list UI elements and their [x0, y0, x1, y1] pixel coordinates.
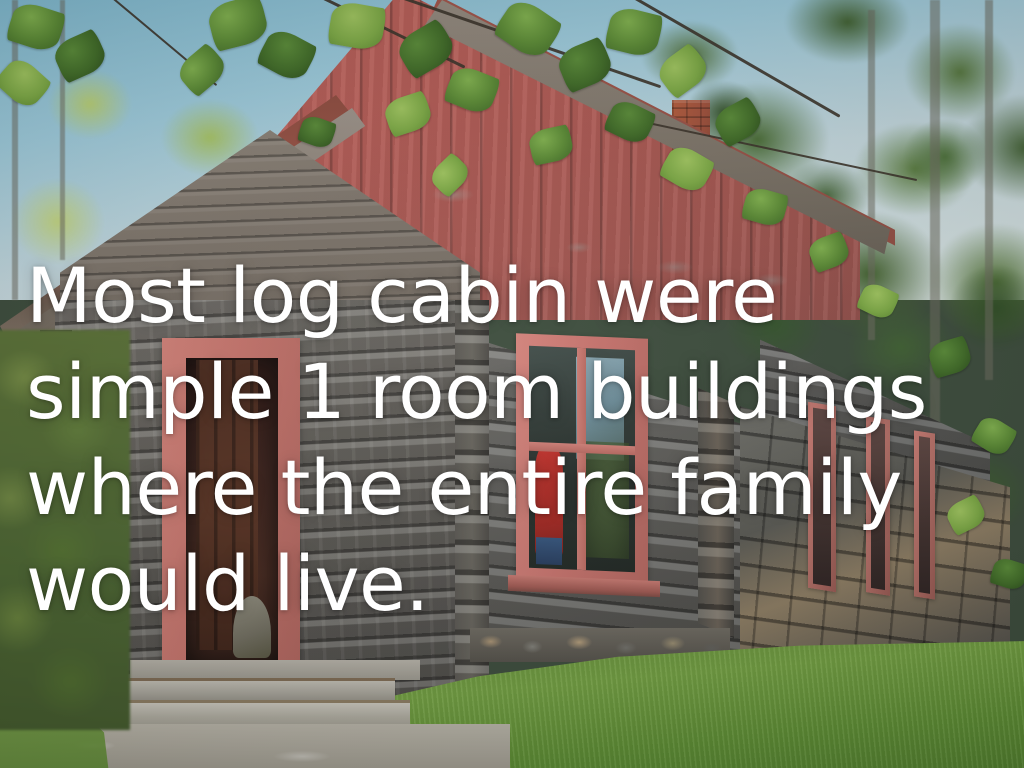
entry-slab	[130, 660, 420, 680]
tree-trunk	[12, 0, 18, 300]
slide-caption: Most log cabin were simple 1 room buildi…	[26, 248, 1001, 632]
presentation-slide: Most log cabin were simple 1 room buildi…	[0, 0, 1024, 768]
tree-trunk	[60, 0, 65, 260]
